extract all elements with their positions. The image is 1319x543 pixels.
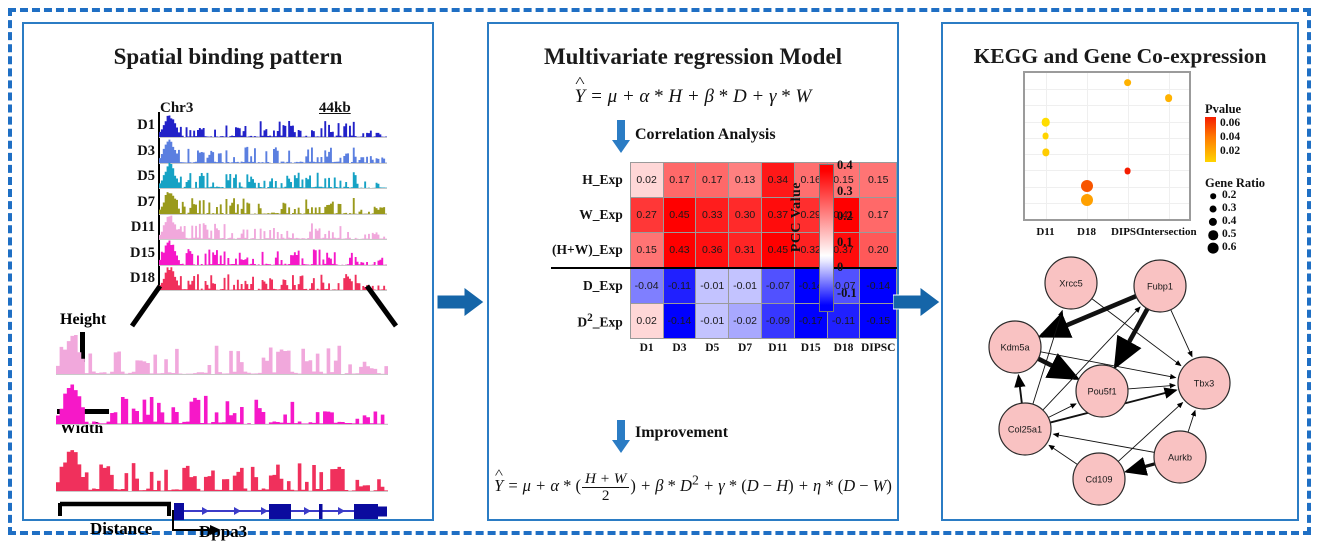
heatmap-row-label: (H+W)_Exp [551, 233, 630, 269]
panel-regression-model: Multivariate regression Model Y = μ + α … [487, 22, 899, 521]
dotplot-gridline-h [1025, 203, 1189, 204]
zoom-track-3 [56, 446, 388, 492]
heatmap-cell: 0.27 [630, 198, 663, 233]
heatmap-col-label: D1 [630, 339, 663, 356]
heatmap-corner-spacer [551, 339, 630, 356]
dotplot-xtick: D11 [1036, 226, 1054, 238]
heatmap-cell: -0.11 [663, 268, 696, 304]
network-node-aurkb[interactable]: Aurkb [1154, 431, 1206, 483]
pvalue-legend-tick: 0.06 [1220, 117, 1240, 129]
generatio-legend-label: 0.3 [1222, 202, 1236, 214]
heatmap-col-label: D5 [696, 339, 729, 356]
network-edge [1019, 376, 1022, 403]
heatmap-row-label: D_Exp [551, 268, 630, 304]
pcc-colorbar-tick: -0.1 [837, 286, 857, 301]
heatmap-cell: 0.43 [663, 233, 696, 269]
network-edge [1128, 385, 1175, 389]
heatmap-cell: 0.17 [696, 163, 729, 198]
track-row-d3: D3 [159, 138, 387, 164]
heatmap-col-label: D7 [729, 339, 762, 356]
dotplot-gridline-h [1025, 89, 1189, 90]
heatmap-cell: 0.13 [729, 163, 762, 198]
svg-text:Fubp1: Fubp1 [1147, 281, 1173, 291]
heatmap-cell: 0.31 [729, 233, 762, 269]
network-edge [1049, 445, 1077, 464]
gene-name-label: Dppa3 [199, 522, 247, 542]
generatio-legend-dot [1210, 193, 1216, 199]
height-label: Height [60, 311, 106, 329]
svg-text:Xrcc5: Xrcc5 [1059, 278, 1083, 288]
generatio-legend-label: 0.4 [1222, 215, 1236, 227]
network-edge [1188, 411, 1195, 433]
heatmap-cell: 0.30 [729, 198, 762, 233]
pvalue-legend-title: Pvalue [1205, 102, 1241, 117]
heatmap-cell: -0.14 [860, 268, 897, 304]
pcc-colorbar-tick: 0.2 [837, 209, 853, 224]
panel-kegg-coexpression: KEGG and Gene Co-expression D11D18DIPSCI… [941, 22, 1299, 521]
heatmap-cell: 0.17 [663, 163, 696, 198]
track-signal-d15 [159, 239, 387, 266]
dotplot-point [1041, 118, 1050, 127]
track-label-d7: D7 [115, 194, 155, 211]
track-label-d1: D1 [115, 117, 155, 134]
heatmap-row: D2_Exp0.02-0.14-0.01-0.02-0.09-0.17-0.11… [551, 304, 897, 339]
network-node-kdm5a[interactable]: Kdm5a [989, 321, 1041, 373]
dotplot-xtick: DIPSC [1111, 226, 1144, 238]
correlation-step-arrow-icon [611, 120, 631, 154]
pcc-colorbar-tick: 0.4 [837, 158, 853, 173]
heatmap-cell: -0.09 [761, 304, 794, 339]
kegg-dotplot [1023, 71, 1191, 221]
dotplot-gridline-h [1025, 154, 1189, 155]
pvalue-colorbar [1205, 117, 1216, 162]
track-signal-d1 [159, 111, 387, 138]
pvalue-legend-tick: 0.02 [1220, 145, 1240, 157]
track-row-d7: D7 [159, 189, 387, 215]
network-edge [1127, 464, 1155, 472]
arrow-model-to-kegg-icon [893, 285, 941, 319]
svg-text:Tbx3: Tbx3 [1194, 378, 1214, 388]
pvalue-legend-tick: 0.04 [1220, 131, 1240, 143]
heatmap-cell: 0.17 [860, 198, 897, 233]
pcc-colorbar-tick: 0.3 [837, 184, 853, 199]
improvement-step-label: Improvement [635, 424, 728, 442]
heatmap-cell: 0.20 [860, 233, 897, 269]
panel-kegg-title: KEGG and Gene Co-expression [943, 44, 1297, 69]
heatmap-row-label: D2_Exp [551, 304, 630, 339]
network-node-xrcc5[interactable]: Xrcc5 [1045, 257, 1097, 309]
heatmap-cell: 0.33 [696, 198, 729, 233]
dotplot-gridline-v [1128, 73, 1129, 219]
heatmap-col-label: D11 [761, 339, 794, 356]
equation-top: Y = μ + α * H + β * D + γ * W [489, 86, 897, 108]
track-row-d11: D11 [159, 214, 387, 240]
dotplot-gridline-h [1025, 138, 1189, 139]
correlation-step-label: Correlation Analysis [635, 126, 776, 144]
heatmap-col-label: DIPSC [860, 339, 897, 356]
track-signal-d3 [159, 137, 387, 164]
pcc-colorbar [819, 164, 834, 312]
improvement-step-arrow-icon [611, 420, 631, 454]
dotplot-gridline-h [1025, 170, 1189, 171]
track-label-d3: D3 [115, 143, 155, 160]
gene-network-svg: Xrcc5Fubp1Kdm5aPou5f1Tbx3Col25a1Cd109Aur… [955, 239, 1289, 511]
heatmap-xaxis-row: D1D3D5D7D11D15D18DIPSC [551, 339, 897, 356]
track-signal-d5 [159, 162, 387, 189]
heatmap-cell: -0.01 [729, 268, 762, 304]
network-node-tbx3[interactable]: Tbx3 [1178, 357, 1230, 409]
heatmap-cell: 0.36 [696, 233, 729, 269]
heatmap-col-label: D18 [827, 339, 860, 356]
panel-model-title: Multivariate regression Model [489, 44, 897, 70]
track-signal-d7 [159, 188, 387, 215]
network-edge [1054, 434, 1155, 452]
genome-track-area: Chr3 44kb D1D3D5D7D11D15D18 Height Width… [24, 24, 432, 519]
track-label-d5: D5 [115, 168, 155, 185]
heatmap-cell: 0.15 [630, 233, 663, 269]
dotplot-point [1081, 180, 1093, 192]
network-edge [1171, 310, 1192, 357]
heatmap-cell: -0.15 [860, 304, 897, 339]
figure-root: Spatial binding pattern Chr3 44kb D1D3D5… [0, 0, 1319, 543]
zoom-track-signal-2 [56, 378, 388, 425]
zoom-track-signal-1 [56, 328, 388, 375]
pcc-colorbar-tick: 0.1 [837, 235, 853, 250]
heatmap-cell: -0.04 [630, 268, 663, 304]
arrow-spatial-to-model-icon [437, 285, 485, 319]
dotplot-xtick: D18 [1077, 226, 1096, 238]
generatio-legend-dot [1209, 218, 1217, 226]
svg-text:Kdm5a: Kdm5a [1000, 342, 1030, 352]
heatmap-cell: -0.07 [761, 268, 794, 304]
heatmap-cell: -0.14 [663, 304, 696, 339]
zoom-track-1 [56, 329, 388, 375]
network-node-col25a1[interactable]: Col25a1 [999, 403, 1051, 455]
heatmap-row-label: H_Exp [551, 163, 630, 198]
svg-text:Aurkb: Aurkb [1168, 452, 1192, 462]
dotplot-point [1165, 95, 1173, 103]
heatmap-cell: -0.02 [729, 304, 762, 339]
dotplot-point [1124, 168, 1131, 175]
panel-spatial-binding: Spatial binding pattern Chr3 44kb D1D3D5… [22, 22, 434, 521]
distance-bracket [56, 498, 176, 518]
zoom-track-signal-3 [56, 445, 388, 492]
network-edge [1048, 404, 1076, 418]
dotplot-gridline-h [1025, 187, 1189, 188]
heatmap-cell: 0.15 [860, 163, 897, 198]
track-row-d1: D1 [159, 112, 387, 138]
network-node-pou5f1[interactable]: Pou5f1 [1076, 365, 1128, 417]
heatmap-cell: 0.45 [663, 198, 696, 233]
equation-bottom: Y = μ + α * (H + W2) + β * D2 + γ * (D −… [489, 471, 897, 504]
network-node-cd109[interactable]: Cd109 [1073, 453, 1125, 505]
generatio-legend-dot [1210, 206, 1217, 213]
gene-network: Xrcc5Fubp1Kdm5aPou5f1Tbx3Col25a1Cd109Aur… [955, 239, 1289, 511]
pcc-colorbar-title: PCC Value [789, 182, 805, 252]
track-row-d15: D15 [159, 240, 387, 266]
dotplot-point [1124, 79, 1132, 87]
heatmap-row-label: W_Exp [551, 198, 630, 233]
heatmap-col-label: D15 [794, 339, 827, 356]
dotplot-gridline-v [1046, 73, 1047, 219]
svg-text:Col25a1: Col25a1 [1008, 424, 1042, 434]
zoom-track-2 [56, 379, 388, 425]
svg-text:Cd109: Cd109 [1085, 474, 1112, 484]
pcc-colorbar-tick: 0 [837, 260, 843, 275]
dotplot-xtick: Intersection [1140, 226, 1196, 238]
network-node-fubp1[interactable]: Fubp1 [1134, 260, 1186, 312]
heatmap-cell: -0.01 [696, 304, 729, 339]
svg-text:Pou5f1: Pou5f1 [1087, 386, 1116, 396]
track-signal-d11 [159, 213, 387, 240]
track-label-d15: D15 [115, 245, 155, 262]
heatmap-cell: -0.01 [696, 268, 729, 304]
dotplot-point [1081, 194, 1093, 206]
dotplot-gridline-h [1025, 105, 1189, 106]
dotplot-point [1042, 133, 1049, 140]
track-row-d5: D5 [159, 163, 387, 189]
heatmap-col-label: D3 [663, 339, 696, 356]
track-label-d11: D11 [115, 219, 155, 236]
heatmap-cell: 0.02 [630, 304, 663, 339]
heatmap-cell: 0.02 [630, 163, 663, 198]
generatio-legend-label: 0.2 [1222, 189, 1236, 201]
